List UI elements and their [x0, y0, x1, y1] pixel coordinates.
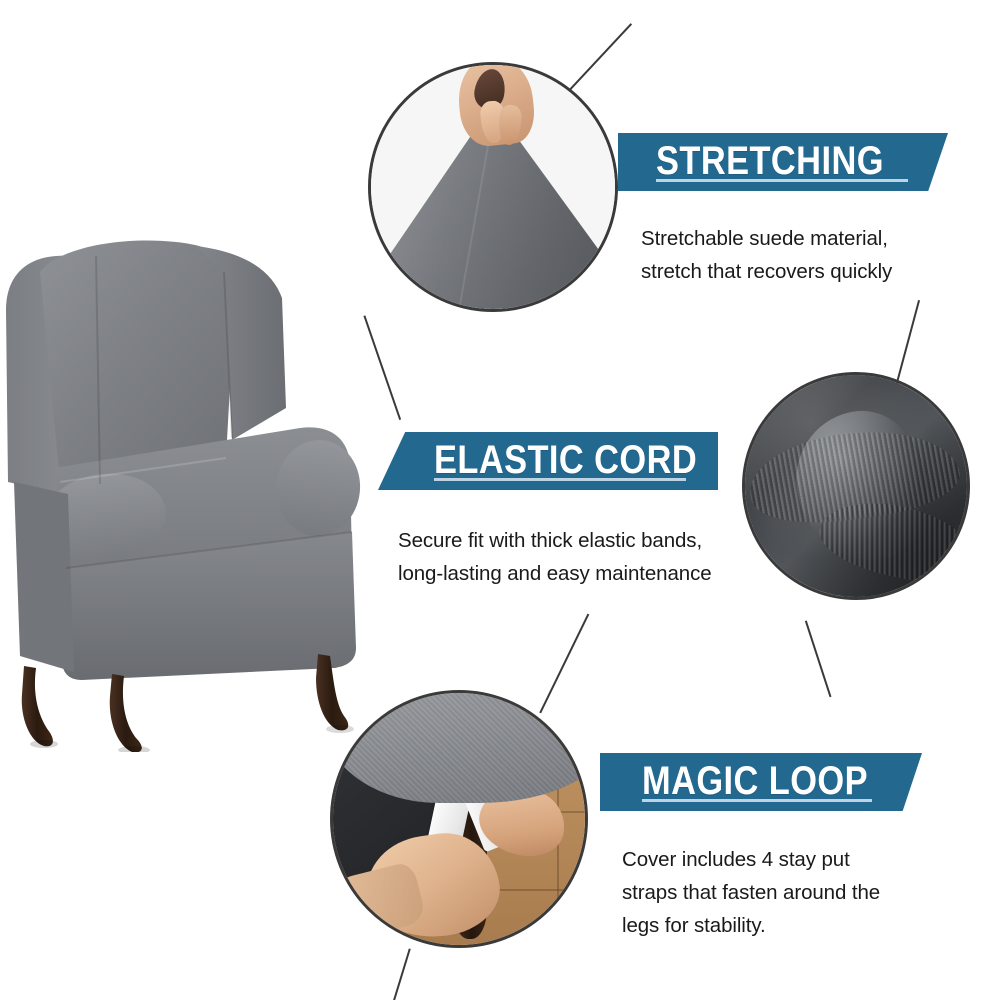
- feature-description-magic-loop: Cover includes 4 stay put straps that fa…: [622, 843, 880, 942]
- feature-description-stretching-line-2: stretch that recovers quickly: [641, 255, 892, 288]
- feature-description-magic-loop-line-3: legs for stability.: [622, 909, 880, 942]
- chair-illustration: [0, 232, 400, 752]
- leader-line-elastic-bottom: [805, 621, 831, 698]
- infographic-canvas: STRETCHING Stretchable suede material, s…: [0, 0, 1000, 1000]
- feature-title-underline-elastic-cord: [434, 478, 686, 481]
- feature-title-elastic-cord: ELASTIC CORD: [434, 438, 697, 482]
- feature-description-elastic-cord: Secure fit with thick elastic bands, lon…: [398, 524, 712, 590]
- feature-photo-magic-loop: [330, 690, 588, 948]
- feature-banner-magic-loop: MAGIC LOOP: [600, 753, 922, 811]
- feature-title-underline-stretching: [656, 179, 908, 182]
- feature-description-magic-loop-line-1: Cover includes 4 stay put: [622, 843, 880, 876]
- feature-description-elastic-cord-line-2: long-lasting and easy maintenance: [398, 557, 712, 590]
- leader-line-magic-loop-bottom: [391, 949, 411, 1000]
- feature-banner-stretching: STRETCHING: [618, 133, 948, 191]
- feature-banner-elastic-cord: ELASTIC CORD: [378, 432, 718, 490]
- product-photo-wingback-chair: [0, 232, 400, 752]
- feature-title-magic-loop: MAGIC LOOP: [642, 759, 868, 803]
- feature-title-underline-magic-loop: [642, 799, 872, 802]
- feature-photo-stretching: [368, 62, 618, 312]
- feature-description-magic-loop-line-2: straps that fasten around the: [622, 876, 880, 909]
- feature-description-stretching-line-1: Stretchable suede material,: [641, 222, 892, 255]
- feature-title-stretching: STRETCHING: [656, 139, 884, 183]
- feature-description-stretching: Stretchable suede material, stretch that…: [641, 222, 892, 288]
- feature-photo-elastic-cord: [742, 372, 970, 600]
- slipcover-texture: [330, 690, 588, 803]
- feature-description-elastic-cord-line-1: Secure fit with thick elastic bands,: [398, 524, 712, 557]
- fabric-sheen: [745, 375, 967, 597]
